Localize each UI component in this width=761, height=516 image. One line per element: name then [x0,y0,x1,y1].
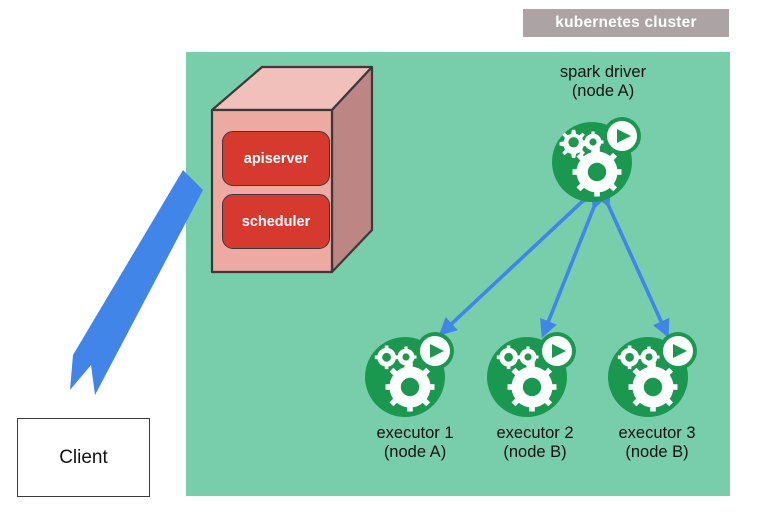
gear-icon-large [573,148,622,197]
executor-3-name: executor 3 [577,424,737,443]
gear-icon-large [629,363,678,412]
client-box: Client [17,418,150,497]
chip-scheduler: scheduler [222,194,330,249]
spark-driver-node-icon [546,110,646,210]
spark-driver-label: spark driver (node A) [513,63,693,102]
chip-scheduler-label: scheduler [242,214,311,230]
spark-driver-node: (node A) [513,82,693,101]
gear-icon-large [508,363,557,412]
diagram-canvas: kubernetes cluster Client spark-submit a… [0,0,761,516]
executor-2-node-icon [481,325,581,425]
executor-1-node-icon [359,325,459,425]
executor-3-label: executor 3 (node B) [577,424,737,463]
control-plane-cube: apiserver scheduler [200,62,380,277]
gear-icon [560,130,588,158]
kubernetes-cluster-badge: kubernetes cluster [523,9,729,37]
spark-submit-arrow [55,160,215,420]
gear-icon-large [386,363,435,412]
executor-3-node: (node B) [577,443,737,462]
executor-3-node-icon [602,325,702,425]
client-label: Client [59,447,108,469]
spark-driver-name: spark driver [513,63,693,82]
chip-apiserver: apiserver [222,131,330,186]
kubernetes-cluster-badge-label: kubernetes cluster [555,14,696,32]
chip-apiserver-label: apiserver [244,151,309,167]
